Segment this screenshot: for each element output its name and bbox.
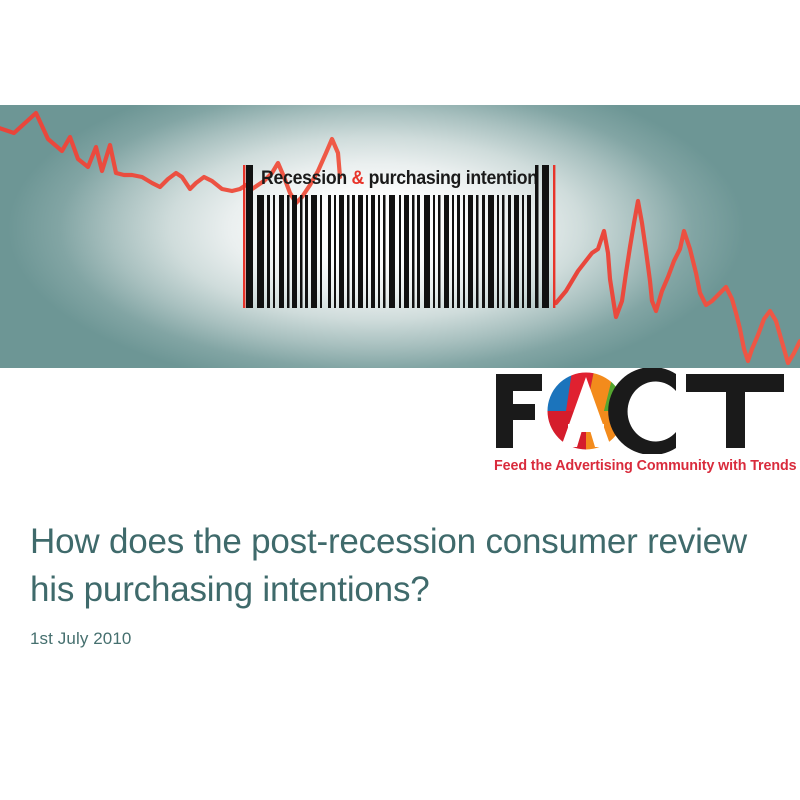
fact-logo-mark: [490, 368, 790, 454]
logo-letter-t: [686, 374, 784, 448]
fact-logo: Feed the Advertising Community with Tren…: [490, 368, 790, 480]
fact-logo-tagline: Feed the Advertising Community with Tren…: [494, 456, 786, 476]
barcode-graphic: Recession & purchasing intention: [243, 165, 558, 308]
recession-banner: Recession & purchasing intention: [0, 105, 800, 368]
publication-date: 1st July 2010: [30, 628, 770, 650]
trend-line-right: [556, 201, 800, 363]
logo-letter-f: [496, 374, 542, 448]
page-title: How does the post-recession consumer rev…: [30, 518, 770, 614]
slide-canvas: Recession & purchasing intention: [0, 0, 800, 800]
barcode-bars: [243, 165, 558, 308]
title-block: How does the post-recession consumer rev…: [30, 518, 770, 650]
logo-letter-c: [608, 368, 676, 454]
